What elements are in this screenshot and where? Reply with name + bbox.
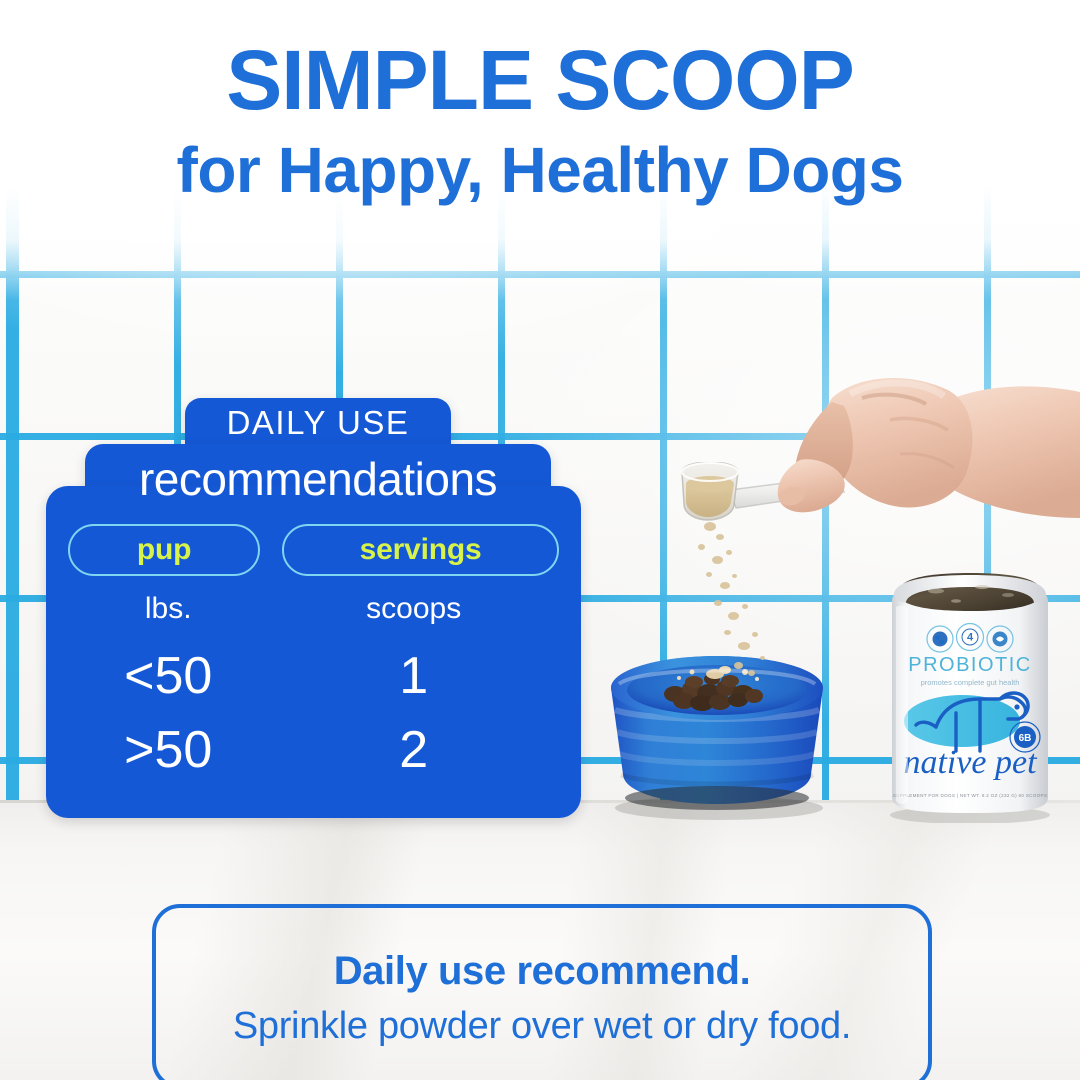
row-1-scoops: 2 [268, 714, 559, 788]
headline-line-1: SIMPLE SCOOP [0, 38, 1080, 124]
row-0-weight: <50 [68, 640, 268, 714]
pill-servings[interactable]: servings [282, 524, 559, 576]
card-title: recommendations [85, 452, 551, 506]
row-0-scoops: 1 [268, 640, 559, 714]
hand-holding-scoop [740, 368, 1080, 568]
pill-pup-label: pup [137, 533, 191, 567]
table-header-scoops: scoops [268, 592, 559, 640]
svg-text:promotes complete gut health: promotes complete gut health [921, 678, 1020, 687]
infographic-canvas: SIMPLE SCOOP for Happy, Healthy Dogs [0, 0, 1080, 1080]
svg-text:PROBIOTIC: PROBIOTIC [908, 654, 1032, 676]
table-header-lbs: lbs. [68, 592, 268, 640]
pill-servings-label: servings [360, 533, 482, 567]
svg-text:SUPPLEMENT FOR DOGS | NET WT.: SUPPLEMENT FOR DOGS | NET WT. 8.2 OZ (23… [893, 793, 1048, 798]
column-pills: pup servings [46, 524, 581, 576]
dosage-table: lbs. scoops <50 1 >50 2 [46, 592, 581, 788]
card-tab-label: DAILY USE [185, 404, 451, 442]
caption-line-1: Daily use recommend. [334, 946, 751, 996]
pill-pup[interactable]: pup [68, 524, 260, 576]
row-1-weight: >50 [68, 714, 268, 788]
table-header-row: lbs. scoops [68, 592, 559, 640]
svg-text:🐾: 🐾 [934, 635, 945, 645]
product-can: 🐾 4 PROBIOTIC promotes complete gut heal… [884, 561, 1056, 823]
svg-text:6B: 6B [1019, 733, 1032, 744]
headline-line-2: for Happy, Healthy Dogs [0, 130, 1080, 210]
page-title: SIMPLE SCOOP for Happy, Healthy Dogs [0, 38, 1080, 210]
table-row: <50 1 [68, 640, 559, 714]
caption-line-2: Sprinkle powder over wet or dry food. [233, 1002, 851, 1051]
caption-box: Daily use recommend. Sprinkle powder ove… [152, 904, 932, 1080]
svg-text:4: 4 [967, 632, 974, 644]
svg-text:native pet: native pet [903, 744, 1038, 781]
table-row: >50 2 [68, 714, 559, 788]
